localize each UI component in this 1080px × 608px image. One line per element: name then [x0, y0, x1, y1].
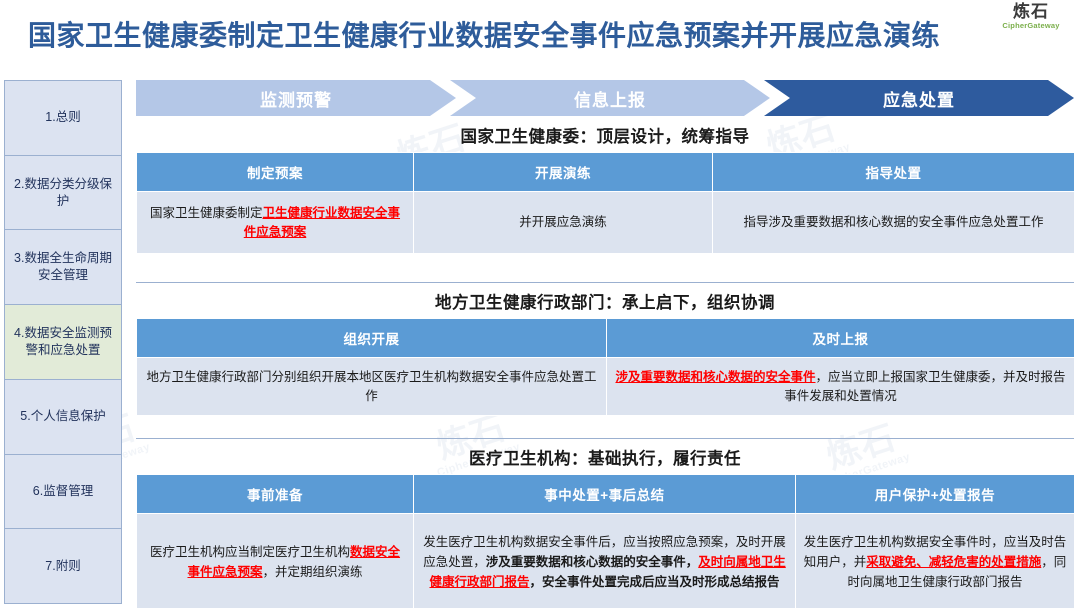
section-title: 国家卫生健康委：顶层设计，统筹指导 — [136, 122, 1074, 152]
sidebar-item-label: 4.数据安全监测预警和应急处置 — [9, 325, 117, 359]
section-divider — [136, 438, 1074, 439]
cell-organize: 地方卫生健康行政部门分别组织开展本地区医疗卫生机构数据安全事件应急处置工作 — [137, 358, 607, 416]
sidebar-item-1[interactable]: 1.总则 — [5, 81, 121, 156]
cell-handling-summary: 发生医疗卫生机构数据安全事件后，应当按照应急预案，及时开展应急处置，涉及重要数据… — [414, 514, 796, 608]
process-step-label: 监测预警 — [260, 86, 332, 111]
logo-text-en: CipherGateway — [992, 21, 1070, 31]
sidebar-item-2[interactable]: 2.数据分类分级保护 — [5, 156, 121, 231]
section-table: 组织开展 及时上报 地方卫生健康行政部门分别组织开展本地区医疗卫生机构数据安全事… — [136, 318, 1075, 416]
cell-preparation: 医疗卫生机构应当制定医疗卫生机构数据安全事件应急预案，并定期组织演练 — [137, 514, 414, 608]
sidebar-item-7[interactable]: 7.附则 — [5, 529, 121, 604]
slide-canvas: 炼石 CipherGateway 炼石 CipherGateway 炼石 Cip… — [0, 0, 1080, 608]
section-title: 地方卫生健康行政部门：承上启下，组织协调 — [136, 288, 1074, 318]
cell-user-protection: 发生医疗卫生机构数据安全事件时，应当及时告知用户，并采取避免、减轻危害的处置措施… — [796, 514, 1075, 608]
slide-header: 国家卫生健康委制定卫生健康行业数据安全事件应急预案并开展应急演练 炼石 Ciph… — [0, 0, 1080, 74]
col-header-guidance: 指导处置 — [713, 153, 1075, 192]
sidebar-item-label: 1.总则 — [45, 109, 80, 126]
cell-plan: 国家卫生健康委制定卫生健康行业数据安全事件应急预案 — [137, 192, 414, 254]
process-chevron-bar: 监测预警 信息上报 应急处置 — [136, 80, 1074, 116]
process-step-emergency-response[interactable]: 应急处置 — [764, 80, 1074, 116]
table-row: 地方卫生健康行政部门分别组织开展本地区医疗卫生机构数据安全事件应急处置工作 涉及… — [137, 358, 1075, 416]
cell-guidance: 指导涉及重要数据和核心数据的安全事件应急处置工作 — [713, 192, 1075, 254]
table-row: 国家卫生健康委制定卫生健康行业数据安全事件应急预案 并开展应急演练 指导涉及重要… — [137, 192, 1075, 254]
sidebar-item-label: 2.数据分类分级保护 — [9, 176, 117, 210]
section-medical-institution: 医疗卫生机构：基础执行，履行责任 事前准备 事中处置+事后总结 用户保护+处置报… — [136, 444, 1074, 608]
table-header-row: 制定预案 开展演练 指导处置 — [137, 153, 1075, 192]
sidebar-item-label: 3.数据全生命周期安全管理 — [9, 250, 117, 284]
section-local-department: 地方卫生健康行政部门：承上启下，组织协调 组织开展 及时上报 地方卫生健康行政部… — [136, 288, 1074, 416]
sidebar-item-label: 7.附则 — [45, 558, 80, 575]
section-table: 制定预案 开展演练 指导处置 国家卫生健康委制定卫生健康行业数据安全事件应急预案… — [136, 152, 1075, 254]
process-step-label: 信息上报 — [574, 86, 646, 111]
section-table: 事前准备 事中处置+事后总结 用户保护+处置报告 医疗卫生机构应当制定医疗卫生机… — [136, 474, 1075, 608]
brand-logo: 炼石 CipherGateway — [992, 2, 1070, 40]
col-header-user-protection: 用户保护+处置报告 — [796, 475, 1075, 514]
process-step-monitoring[interactable]: 监测预警 — [136, 80, 456, 116]
sidebar-item-label: 5.个人信息保护 — [20, 408, 105, 425]
col-header-organize: 组织开展 — [137, 319, 607, 358]
section-national-commission: 国家卫生健康委：顶层设计，统筹指导 制定预案 开展演练 指导处置 国家卫生健康委… — [136, 122, 1074, 254]
sidebar-item-label: 6.监督管理 — [33, 483, 93, 500]
sidebar-nav: 1.总则 2.数据分类分级保护 3.数据全生命周期安全管理 4.数据安全监测预警… — [4, 80, 122, 604]
sidebar-item-6[interactable]: 6.监督管理 — [5, 455, 121, 530]
process-step-reporting[interactable]: 信息上报 — [450, 80, 770, 116]
section-title: 医疗卫生机构：基础执行，履行责任 — [136, 444, 1074, 474]
cell-drill: 并开展应急演练 — [414, 192, 713, 254]
process-step-label: 应急处置 — [883, 86, 955, 111]
col-header-preparation: 事前准备 — [137, 475, 414, 514]
col-header-report: 及时上报 — [607, 319, 1075, 358]
cell-report: 涉及重要数据和核心数据的安全事件，应当立即上报国家卫生健康委，并及时报告事件发展… — [607, 358, 1075, 416]
section-divider — [136, 282, 1074, 283]
sidebar-item-5[interactable]: 5.个人信息保护 — [5, 380, 121, 455]
table-row: 医疗卫生机构应当制定医疗卫生机构数据安全事件应急预案，并定期组织演练 发生医疗卫… — [137, 514, 1075, 608]
sidebar-item-3[interactable]: 3.数据全生命周期安全管理 — [5, 230, 121, 305]
sidebar-item-4[interactable]: 4.数据安全监测预警和应急处置 — [5, 305, 121, 380]
table-header-row: 事前准备 事中处置+事后总结 用户保护+处置报告 — [137, 475, 1075, 514]
col-header-handling-summary: 事中处置+事后总结 — [414, 475, 796, 514]
table-header-row: 组织开展 及时上报 — [137, 319, 1075, 358]
col-header-plan: 制定预案 — [137, 153, 414, 192]
logo-text-cn: 炼石 — [992, 2, 1070, 21]
col-header-drill: 开展演练 — [414, 153, 713, 192]
page-title: 国家卫生健康委制定卫生健康行业数据安全事件应急预案并开展应急演练 — [28, 14, 978, 54]
